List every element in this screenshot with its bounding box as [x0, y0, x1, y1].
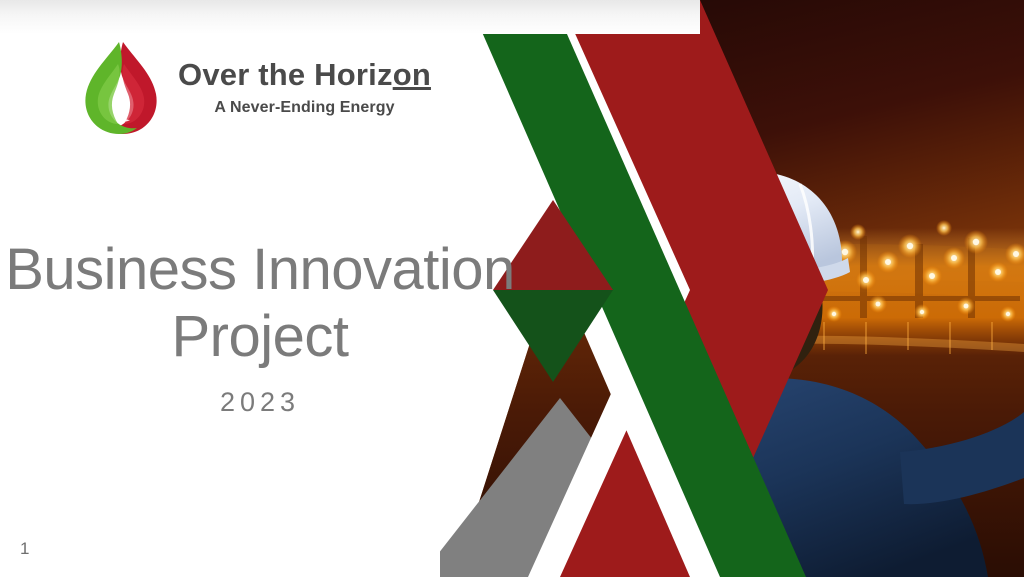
- page-title-line2: Project: [0, 303, 520, 370]
- presentation-slide: Over the Horizon A Never-Ending Energy B…: [0, 0, 1024, 577]
- company-logo: Over the Horizon A Never-Ending Energy: [78, 38, 431, 138]
- title-block: Business Innovation Project 2023: [0, 236, 520, 418]
- logo-brand-name: Over the Horizon: [178, 59, 431, 92]
- logo-tagline: A Never-Ending Energy: [214, 99, 394, 117]
- flame-droplet-icon: [78, 38, 164, 138]
- title-year: 2023: [0, 387, 520, 418]
- page-number: 1: [20, 539, 29, 559]
- logo-brand-name-part2: on: [393, 57, 431, 92]
- top-gradient-wash: [0, 0, 700, 34]
- page-title-line1: Business Innovation: [0, 236, 520, 303]
- logo-brand-name-part1: Over the Horiz: [178, 57, 393, 92]
